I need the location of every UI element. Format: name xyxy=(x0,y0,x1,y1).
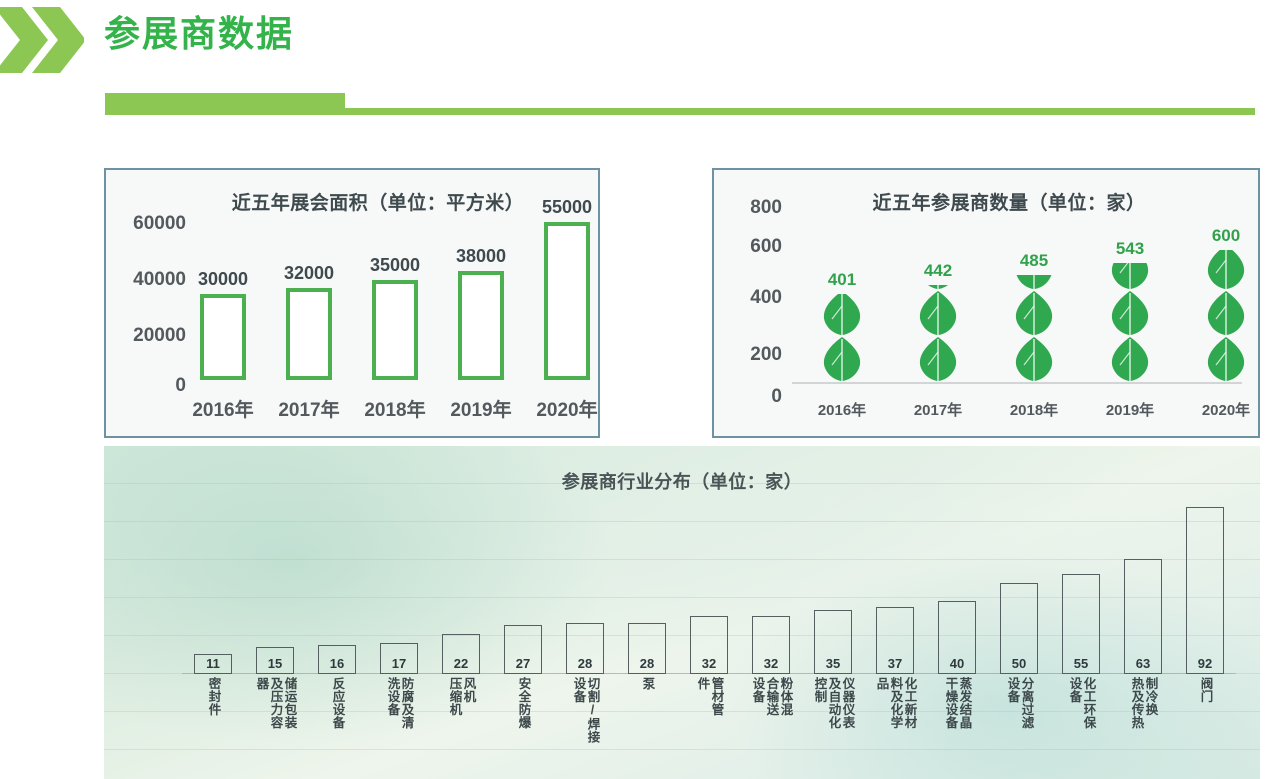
x-tick-label: 2016年 xyxy=(792,399,892,420)
x-tick-label-line: 设备 xyxy=(1006,677,1019,777)
bar-value-label: 22 xyxy=(454,657,468,671)
bar-value-label: 32000 xyxy=(278,263,340,284)
x-tick-label-line: 防腐及清 xyxy=(400,677,413,777)
x-tick-label-line: 化工新材 xyxy=(903,677,916,777)
x-tick-label-line: 设备 xyxy=(572,677,585,777)
x-tick-label-line: 蒸发结晶 xyxy=(958,677,971,777)
x-tick-label-line: 干燥设备 xyxy=(944,677,957,777)
x-tick-label: 防腐及清洗设备 xyxy=(365,677,433,777)
y-axis-exhibition-area: 6000040000200000 xyxy=(106,170,186,436)
bar-column: 32粉体混合输送设备 xyxy=(740,492,802,779)
x-tick-label: 2019年 xyxy=(1080,399,1180,420)
bar-value-label: 32 xyxy=(702,657,716,671)
bar-value-label: 16 xyxy=(330,657,344,671)
bar-value-label: 401 xyxy=(798,270,886,290)
x-tick-label-line: 及自动化 xyxy=(827,677,840,777)
x-tick-label: 2018年 xyxy=(984,399,1084,420)
x-tick-label: 2020年 xyxy=(519,395,615,422)
leaf-stack xyxy=(819,294,865,382)
y-tick-label: 800 xyxy=(750,197,782,219)
bar-value-label: 600 xyxy=(1182,226,1270,246)
x-tick-label: 储运包装及压力容器 xyxy=(241,677,309,777)
x-tick-label-line: 料及化学 xyxy=(889,677,902,777)
bar-rect xyxy=(1186,507,1224,674)
bar-value-label: 442 xyxy=(894,261,982,281)
x-tick-label-line: 泵 xyxy=(641,677,654,777)
bar-value-label: 543 xyxy=(1086,239,1174,259)
bar-column: 50分离过滤设备 xyxy=(988,492,1050,779)
x-tick-label-line: 反应设备 xyxy=(331,677,344,777)
double-chevron-right-icon xyxy=(0,4,84,76)
plot-area-exhibitor-count: 401442485543600 xyxy=(792,210,1246,384)
x-tick-label-line: 品 xyxy=(875,677,888,777)
bar-value-label: 63 xyxy=(1136,657,1150,671)
bar-rect xyxy=(372,280,418,380)
bar-column: 55化工环保设备 xyxy=(1050,492,1112,779)
title-accent-rule xyxy=(105,108,1255,115)
x-tick-label: 仪器仪表及自动化控制 xyxy=(799,677,867,777)
x-tick-label: 化工环保设备 xyxy=(1047,677,1115,777)
leaf-icon xyxy=(915,290,961,336)
y-tick-label: 600 xyxy=(750,236,782,258)
x-tick-label: 分离过滤设备 xyxy=(985,677,1053,777)
bar-value-label: 30000 xyxy=(192,269,254,290)
leaf-icon xyxy=(915,336,961,382)
bar-value-label: 485 xyxy=(990,251,1078,271)
x-tick-label-line: 器 xyxy=(255,677,268,777)
bar-value-label: 28 xyxy=(640,657,654,671)
leaf-icon xyxy=(1011,275,1057,290)
y-tick-label: 0 xyxy=(175,375,186,397)
x-tick-label: 2018年 xyxy=(347,395,443,422)
leaf-icon xyxy=(819,336,865,382)
y-tick-label: 400 xyxy=(750,287,782,309)
bar-value-label: 35000 xyxy=(364,255,426,276)
bar-column: 92阀门 xyxy=(1174,492,1236,779)
leaf-stack xyxy=(915,285,961,382)
bar-value-label: 28 xyxy=(578,657,592,671)
leaf-icon xyxy=(1107,263,1153,290)
x-tick-label: 2016年 xyxy=(175,395,271,422)
x-tick-label: 2019年 xyxy=(433,395,529,422)
bar-value-label: 50 xyxy=(1012,657,1026,671)
bar-column: 15储运包装及压力容器 xyxy=(244,492,306,779)
bar-value-label: 17 xyxy=(392,657,406,671)
x-tick-label: 粉体混合输送设备 xyxy=(737,677,805,777)
slide-page: 参展商数据 近五年展会面积（单位：平方米） 6000040000200000 3… xyxy=(0,0,1280,779)
x-tick-label-line: 风机 xyxy=(462,677,475,777)
bar-value-label: 27 xyxy=(516,657,530,671)
x-tick-label: 泵 xyxy=(613,677,681,777)
leaf-icon xyxy=(1107,336,1153,382)
bar-column: 35仪器仪表及自动化控制 xyxy=(802,492,864,779)
x-tick-label-line: 热及传热 xyxy=(1130,677,1143,777)
x-tick-label-line: 管材管 xyxy=(710,677,723,777)
x-tick-label-line: 粉体混 xyxy=(779,677,792,777)
chart-panel-industry-distribution: 参展商行业分布（单位：家） 11密封件15储运包装及压力容器16反应设备17防腐… xyxy=(104,446,1260,779)
x-tick-label: 反应设备 xyxy=(303,677,371,777)
chart-panel-exhibitor-count: 近五年参展商数量（单位：家） 8006004002000 40144248554… xyxy=(712,168,1260,438)
bar-value-label: 55000 xyxy=(536,197,598,218)
leaf-stack xyxy=(1203,250,1249,382)
leaf-icon xyxy=(819,294,865,336)
x-tick-label: 制冷换热及传热 xyxy=(1109,677,1177,777)
bar-rect xyxy=(458,271,504,380)
bar-column: 16反应设备 xyxy=(306,492,368,779)
bar-value-label: 55 xyxy=(1074,657,1088,671)
bar-column: 11密封件 xyxy=(182,492,244,779)
x-tick-label: 密封件 xyxy=(179,677,247,777)
bar-value-label: 32 xyxy=(764,657,778,671)
x-tick-label-line: 控制 xyxy=(813,677,826,777)
x-tick-label-line: 及压力容 xyxy=(269,677,282,777)
x-tick-label: 化工新材料及化学品 xyxy=(861,677,929,777)
bar-column: 35000 xyxy=(364,212,426,380)
y-tick-label: 200 xyxy=(750,344,782,366)
bar-column: 22风机压缩机 xyxy=(430,492,492,779)
x-tick-label: 管材管件 xyxy=(675,677,743,777)
bar-column: 63制冷换热及传热 xyxy=(1112,492,1174,779)
bar-rect xyxy=(200,294,246,380)
leaf-icon xyxy=(1203,290,1249,336)
plot-area-industry-distribution: 11密封件15储运包装及压力容器16反应设备17防腐及清洗设备22风机压缩机27… xyxy=(182,492,1236,779)
x-tick-label-line: 阀门 xyxy=(1199,677,1212,777)
y-tick-label: 40000 xyxy=(133,269,186,291)
x-tick-label-line: 合输送 xyxy=(765,677,778,777)
leaf-icon xyxy=(1011,336,1057,382)
x-tick-label: 2020年 xyxy=(1176,399,1276,420)
leaf-stack xyxy=(1011,275,1057,382)
bar-value-label: 40 xyxy=(950,657,964,671)
bar-column: 27安全防爆 xyxy=(492,492,554,779)
x-tick-label-line: 设备 xyxy=(1068,677,1081,777)
y-tick-label: 0 xyxy=(771,386,782,408)
bar-column: 38000 xyxy=(450,212,512,380)
x-tick-label-line: 分离过滤 xyxy=(1020,677,1033,777)
plot-area-exhibition-area: 3000032000350003800055000 xyxy=(192,212,588,380)
x-tick-label-line: 仪器仪表 xyxy=(841,677,854,777)
leaf-stack xyxy=(1107,263,1153,382)
x-tick-label-line: 储运包装 xyxy=(283,677,296,777)
bar-value-label: 35 xyxy=(826,657,840,671)
x-tick-label: 安全防爆 xyxy=(489,677,557,777)
x-tick-label: 切割/焊接设备 xyxy=(551,677,619,777)
bar-column: 32管材管件 xyxy=(678,492,740,779)
bar-rect xyxy=(544,222,590,380)
page-title: 参展商数据 xyxy=(104,8,294,60)
y-axis-exhibitor-count: 8006004002000 xyxy=(714,170,782,436)
leaf-icon xyxy=(1203,336,1249,382)
leaf-icon xyxy=(1107,290,1153,336)
bar-value-label: 92 xyxy=(1198,657,1212,671)
bar-value-label: 15 xyxy=(268,657,282,671)
x-tick-label-line: 制冷换 xyxy=(1144,677,1157,777)
bar-value-label: 37 xyxy=(888,657,902,671)
bar-column: 28切割/焊接设备 xyxy=(554,492,616,779)
x-tick-label: 风机压缩机 xyxy=(427,677,495,777)
bar-column: 55000 xyxy=(536,212,598,380)
bar-value-label: 11 xyxy=(206,657,220,671)
bar-column: 32000 xyxy=(278,212,340,380)
bar-column: 40蒸发结晶干燥设备 xyxy=(926,492,988,779)
x-tick-label: 2017年 xyxy=(888,399,988,420)
chart-panel-exhibition-area: 近五年展会面积（单位：平方米） 6000040000200000 3000032… xyxy=(104,168,600,438)
leaf-icon xyxy=(1011,290,1057,336)
x-axis-line xyxy=(792,382,1242,384)
leaf-icon xyxy=(1203,250,1249,290)
y-tick-label: 20000 xyxy=(133,325,186,347)
x-tick-label-line: 压缩机 xyxy=(448,677,461,777)
x-tick-label: 蒸发结晶干燥设备 xyxy=(923,677,991,777)
bar-column: 37化工新材料及化学品 xyxy=(864,492,926,779)
y-tick-label: 60000 xyxy=(133,213,186,235)
bar-value-label: 38000 xyxy=(450,246,512,267)
x-tick-label-line: 件 xyxy=(696,677,709,777)
x-tick-label-line: 安全防爆 xyxy=(517,677,530,777)
x-tick-label: 阀门 xyxy=(1171,677,1239,777)
x-tick-label-line: 密封件 xyxy=(207,677,220,777)
x-tick-label-line: 切割/焊接 xyxy=(586,677,599,777)
bar-column: 28泵 xyxy=(616,492,678,779)
x-tick-label-line: 设备 xyxy=(751,677,764,777)
bar-column: 30000 xyxy=(192,212,254,380)
x-tick-label: 2017年 xyxy=(261,395,357,422)
x-tick-label-line: 洗设备 xyxy=(386,677,399,777)
x-tick-label-line: 化工环保 xyxy=(1082,677,1095,777)
bar-column: 17防腐及清洗设备 xyxy=(368,492,430,779)
bar-rect xyxy=(286,288,332,380)
chart-title-industry-distribution: 参展商行业分布（单位：家） xyxy=(104,468,1260,494)
